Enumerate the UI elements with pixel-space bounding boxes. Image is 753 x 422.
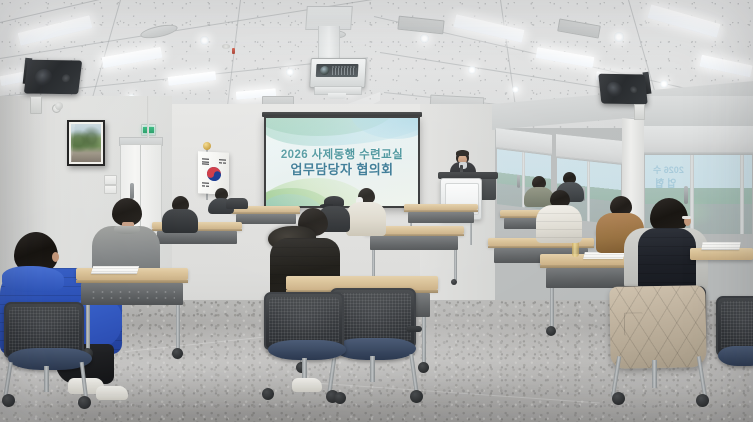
chair-caster: [612, 392, 625, 405]
desk-leg: [470, 223, 472, 245]
speaker-right: [598, 74, 647, 105]
attendee-navy-vest: [638, 228, 696, 290]
puffer-quilting: [638, 228, 696, 290]
attendee-torso: [162, 209, 198, 233]
paper-text-lines: [701, 242, 740, 250]
chair-mesh-texture: [269, 297, 339, 345]
chair-caster: [2, 394, 15, 407]
recessed-downlight: [614, 32, 624, 42]
desk-modesty-panel: [408, 212, 474, 223]
desk-back-center: [404, 204, 478, 228]
attendee-shoe: [96, 386, 128, 400]
desk-caster: [418, 362, 429, 373]
coat-pocket: [624, 312, 643, 335]
chair-mesh-texture: [721, 301, 753, 351]
light-switch-panel[interactable]: [104, 175, 117, 185]
door-handle[interactable]: [130, 183, 134, 199]
chair-mid-seat[interactable]: [268, 340, 346, 360]
window-handle[interactable]: [517, 175, 520, 188]
flag-trigram: [202, 182, 209, 184]
projector-body: [309, 58, 367, 88]
slide-title-block: 2026 사제동행 수련교실 업무담당자 협의회: [266, 148, 418, 178]
recessed-downlight: [468, 66, 476, 74]
desk-caster: [546, 326, 556, 336]
seminar-room-photo: 2026 사제동행 수련교실 업무담당자 협의회: [0, 0, 753, 422]
flag-trigram: [202, 158, 209, 160]
flag-trigram: [202, 161, 209, 163]
chair-armrest: [406, 326, 422, 332]
recessed-downlight: [200, 36, 209, 45]
painting-artwork-detail: [71, 124, 101, 162]
speaker-cone-icon: [606, 82, 623, 97]
window-soffit-front: [636, 96, 753, 126]
chair-far-right-seat[interactable]: [718, 346, 753, 366]
desk-modesty-panel: [81, 283, 183, 305]
attendee-right-white: [536, 190, 582, 242]
window-mullion: [740, 155, 744, 234]
desk-caster: [451, 279, 457, 285]
chair-mesh-texture: [9, 307, 79, 353]
desk-caster: [172, 348, 183, 359]
speaker-left: [24, 60, 82, 95]
flag-trigram: [202, 164, 209, 166]
flag-pole-finial: [203, 142, 211, 150]
flag-taeguk-blue-lobe: [214, 171, 221, 178]
flag-trigram: [219, 159, 226, 161]
desk-leg: [176, 305, 180, 351]
window-mullion: [587, 161, 590, 221]
attendee-ear: [52, 252, 59, 262]
recessed-downlight: [286, 68, 294, 76]
desk-panel-perforation: [89, 289, 175, 299]
sprinkler-icon: [232, 48, 235, 54]
speaker-tweeter-icon: [630, 86, 638, 93]
slide-title-line1: 2026 사제동행 수련교실: [266, 148, 418, 162]
projection-screen: 2026 사제동행 수련교실 업무담당자 협의회: [264, 116, 420, 208]
chair-caster: [262, 388, 274, 400]
chair-caster: [334, 392, 346, 404]
painting-mat: [69, 122, 103, 164]
attendee-left-back-dark: [162, 196, 198, 230]
beige-quilted-coat-draped[interactable]: [609, 285, 706, 369]
chair-caster: [410, 390, 423, 403]
projector-drop-tube: [318, 26, 340, 60]
projector-vent-slots: [332, 66, 356, 75]
chair-empty-center-seat[interactable]: [334, 338, 416, 360]
chair-post: [370, 356, 375, 382]
desk-leg: [422, 317, 426, 365]
handout-paper: [91, 266, 139, 274]
speaker-cone-icon: [34, 69, 53, 86]
slide-reflection-line2: 업 협: [655, 175, 676, 190]
projection-screen-surface: 2026 사제동행 수련교실 업무담당자 협의회: [266, 118, 418, 206]
window-blind[interactable]: [644, 126, 753, 153]
paper-text-lines: [583, 252, 625, 259]
painting-artwork: [71, 124, 101, 162]
smoke-detector-icon: [222, 44, 230, 49]
flag-taeguk-circle: [207, 167, 221, 182]
flag-taeguk-red-lobe: [207, 170, 214, 177]
slide-title-line2: 업무담당자 협의회: [266, 162, 418, 178]
bag-on-desk: [226, 198, 248, 209]
chair-caster: [696, 394, 709, 407]
attendee-torso-white-puffer: [536, 205, 582, 243]
attendee-torso: [346, 202, 386, 236]
attendee-mask-strap: [682, 216, 691, 219]
chair-post: [44, 366, 49, 392]
presenter-hair-front: [456, 150, 469, 156]
wall-conduit: [147, 96, 149, 138]
attendee-shoe: [292, 378, 322, 392]
desk-front-left: [76, 268, 188, 330]
recessed-downlight: [512, 86, 519, 93]
light-switch-panel[interactable]: [104, 185, 117, 194]
desk-leg: [550, 288, 554, 328]
recessed-downlight: [660, 80, 668, 88]
flag-trigram: [223, 162, 226, 163]
projector-base-cap: [328, 93, 346, 99]
flag-trigram: [219, 162, 222, 163]
attendee-right-vest: [624, 198, 708, 290]
speaker-right-conduit-box: [634, 104, 645, 120]
flag-trigram: [206, 185, 209, 186]
handout-paper: [583, 252, 625, 259]
chair-caster: [78, 396, 91, 409]
chair-post: [652, 360, 657, 388]
flag-trigram: [202, 185, 205, 186]
chair-mesh-texture: [335, 293, 411, 343]
framed-painting: [67, 120, 105, 166]
paper-text-lines: [91, 266, 139, 274]
speaker-left-conduit-box: [30, 96, 42, 114]
wall-sensor-icon: [55, 102, 63, 110]
speaker-tweeter-icon: [61, 74, 70, 82]
recessed-downlight: [420, 34, 429, 43]
handout-paper: [701, 242, 740, 250]
desk-leg: [454, 250, 457, 280]
attendee-puffer-hood: [2, 266, 64, 292]
puffer-quilting: [536, 205, 582, 243]
desk-modesty-panel: [370, 236, 458, 250]
desk-leg: [86, 305, 90, 351]
attendee-mid-cream: [346, 188, 386, 236]
